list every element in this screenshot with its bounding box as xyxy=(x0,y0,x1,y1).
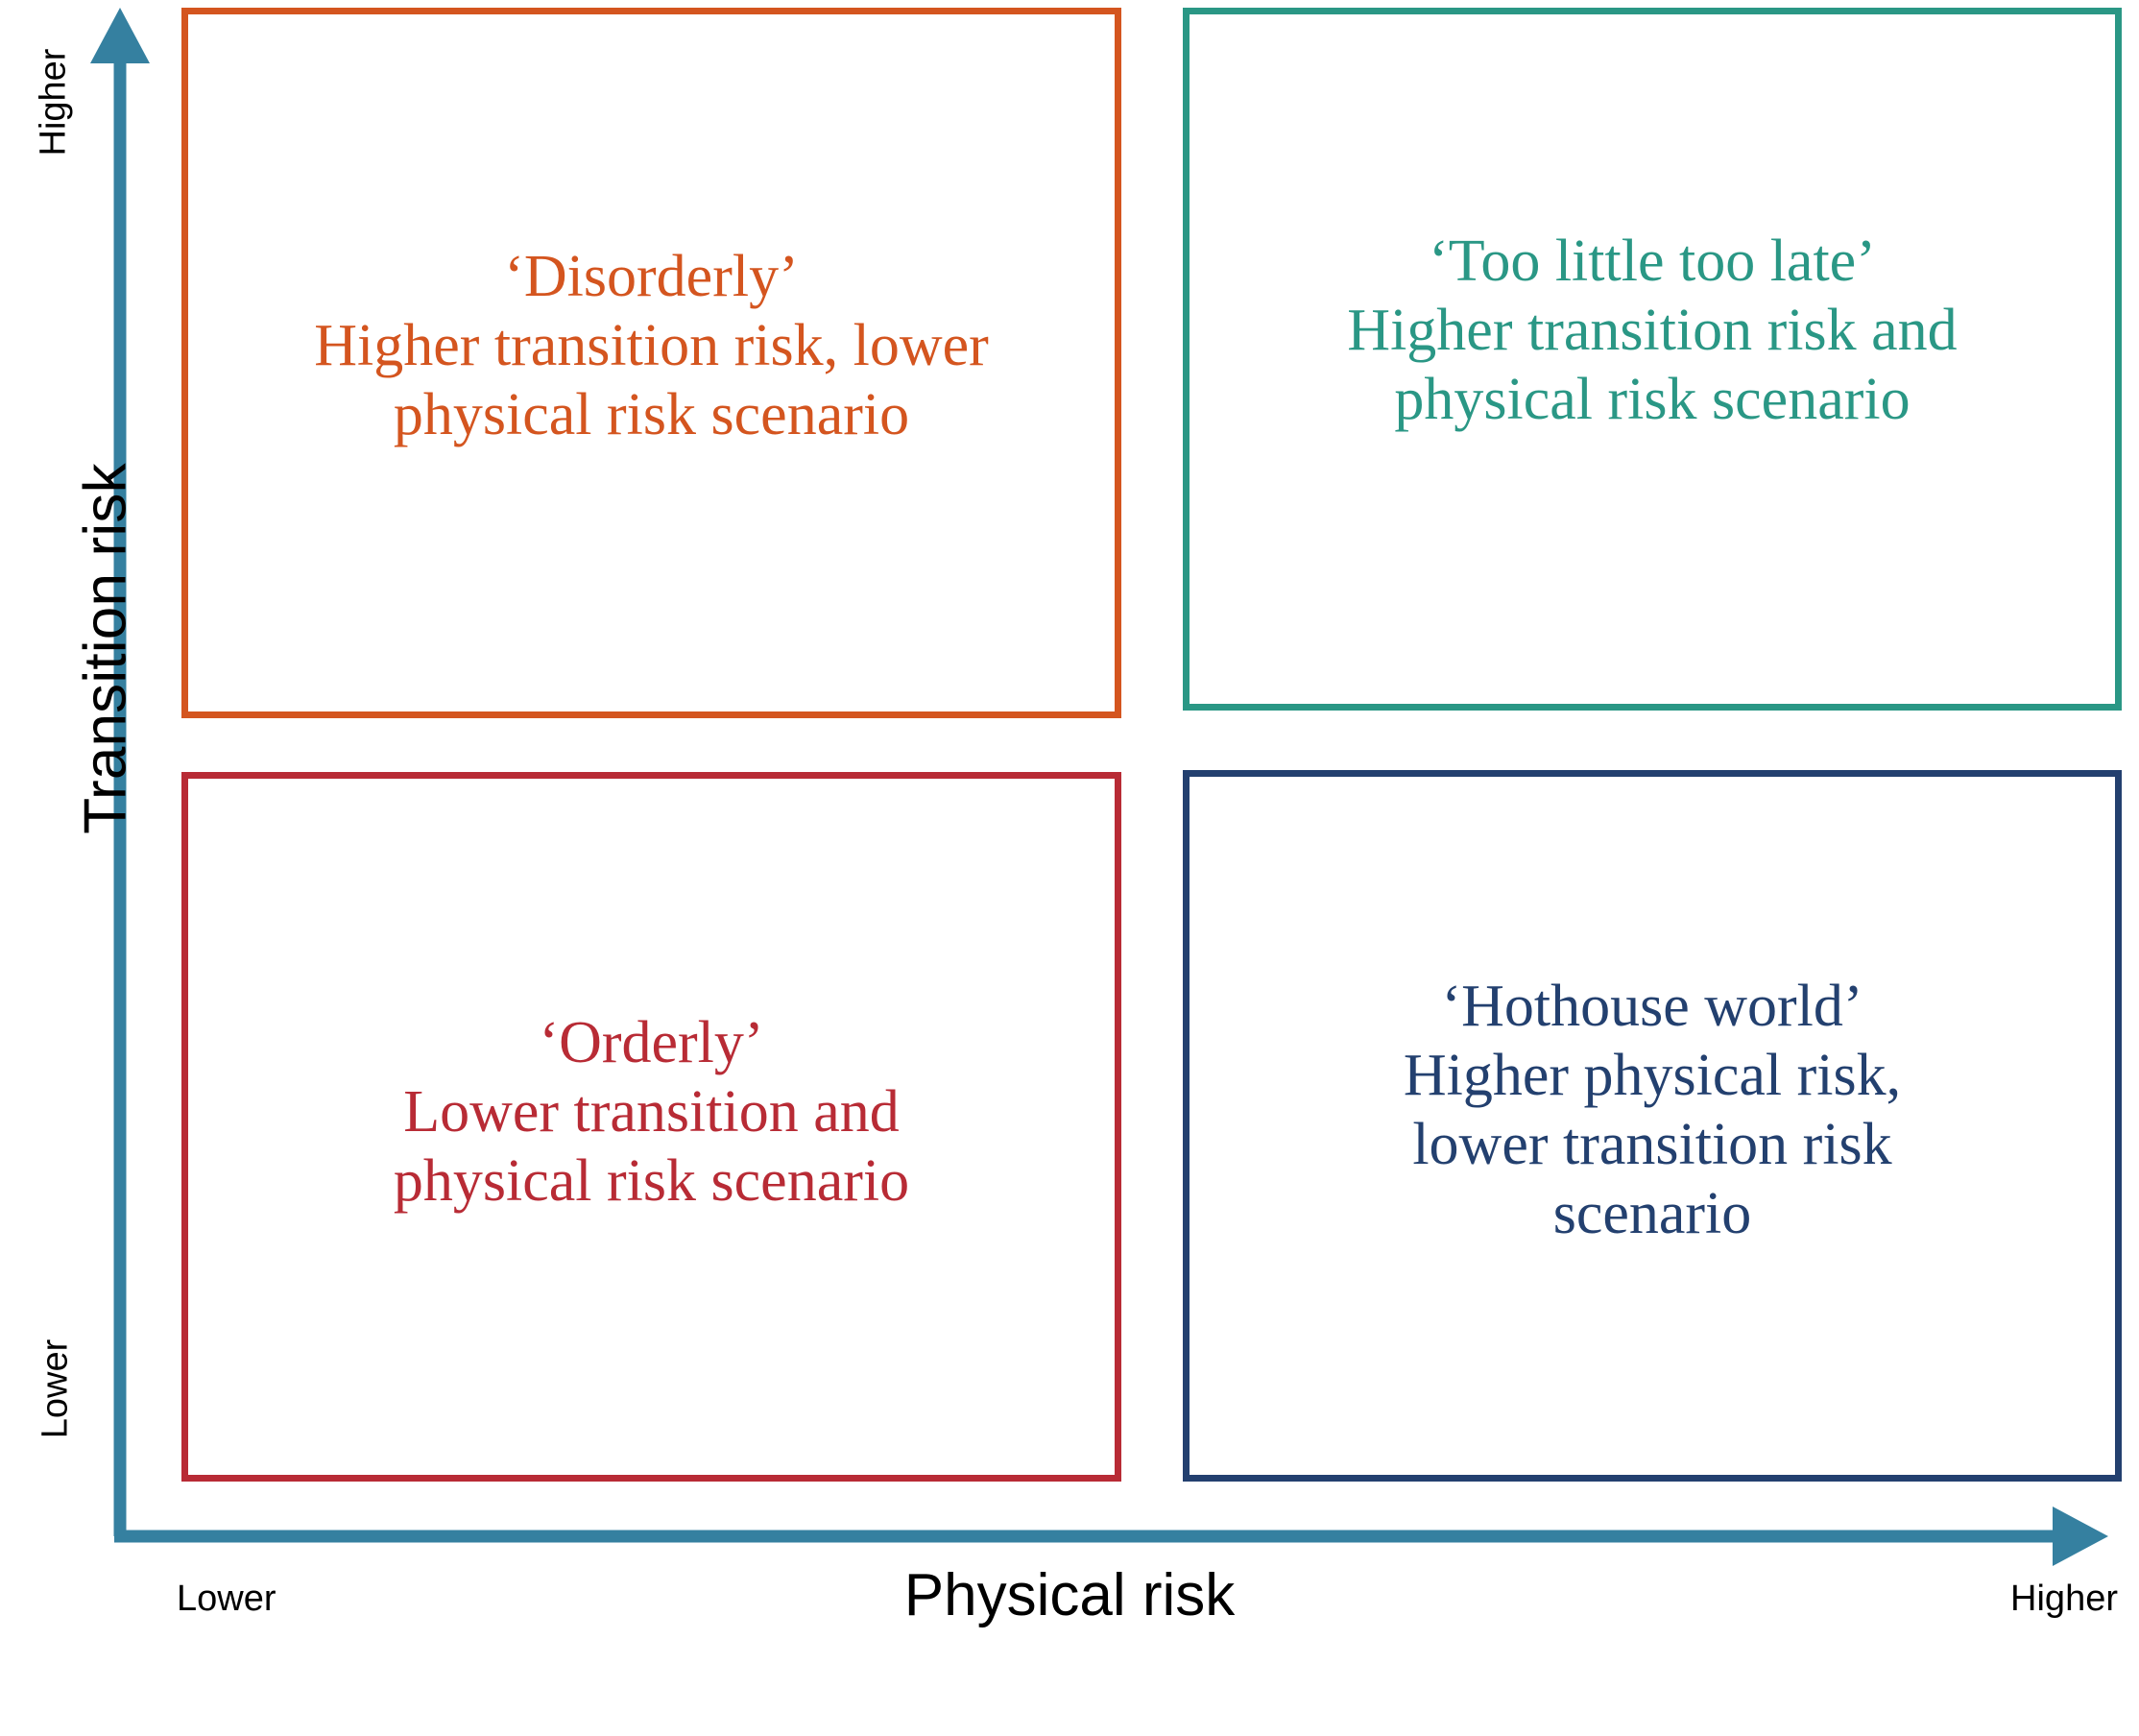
quadrant-orderly-line2: physical risk scenario xyxy=(394,1147,909,1217)
quadrant-orderly[interactable]: ‘Orderly’ Lower transition and physical … xyxy=(181,772,1121,1482)
quadrant-too-little-too-late[interactable]: ‘Too little too late’ Higher transition … xyxy=(1183,8,2122,711)
y-axis-low-label: Lower xyxy=(36,1293,77,1485)
quadrant-hothouse-world[interactable]: ‘Hothouse world’ Higher physical risk, l… xyxy=(1183,770,2122,1482)
quadrant-disorderly[interactable]: ‘Disorderly’ Higher transition risk, low… xyxy=(181,8,1121,718)
quadrant-hothouse-world-line2: lower transition risk xyxy=(1404,1111,1901,1180)
quadrant-hothouse-world-title: ‘Hothouse world’ xyxy=(1404,973,1901,1042)
x-axis-high-label: Higher xyxy=(2010,1579,2118,1620)
quadrant-too-little-too-late-line2: physical risk scenario xyxy=(1347,366,1957,435)
x-axis-low-label: Lower xyxy=(177,1579,276,1620)
quadrant-too-little-too-late-text: ‘Too little too late’ Higher transition … xyxy=(1330,228,1974,435)
y-axis-high-label: Higher xyxy=(34,7,75,199)
quadrant-disorderly-line2: physical risk scenario xyxy=(314,381,989,450)
quadrant-too-little-too-late-title: ‘Too little too late’ xyxy=(1347,228,1957,297)
quadrant-orderly-text: ‘Orderly’ Lower transition and physical … xyxy=(376,1009,926,1217)
y-axis-title: Transition risk xyxy=(72,390,140,908)
arrow-right-icon xyxy=(2053,1507,2108,1566)
quadrant-hothouse-world-text: ‘Hothouse world’ Higher physical risk, l… xyxy=(1386,973,1918,1249)
quadrant-disorderly-title: ‘Disorderly’ xyxy=(314,243,989,312)
quadrant-hothouse-world-line1: Higher physical risk, xyxy=(1404,1042,1901,1111)
arrow-up-icon xyxy=(90,8,150,63)
quadrant-disorderly-text: ‘Disorderly’ Higher transition risk, low… xyxy=(297,243,1006,450)
risk-quadrant-diagram: Transition risk Higher Lower Physical ri… xyxy=(0,0,2139,1736)
x-axis-title: Physical risk xyxy=(0,1561,2139,1629)
quadrant-orderly-title: ‘Orderly’ xyxy=(394,1009,909,1078)
quadrant-orderly-line1: Lower transition and xyxy=(394,1078,909,1147)
quadrant-hothouse-world-line3: scenario xyxy=(1404,1180,1901,1249)
quadrant-too-little-too-late-line1: Higher transition risk and xyxy=(1347,297,1957,366)
quadrant-disorderly-line1: Higher transition risk, lower xyxy=(314,312,989,381)
